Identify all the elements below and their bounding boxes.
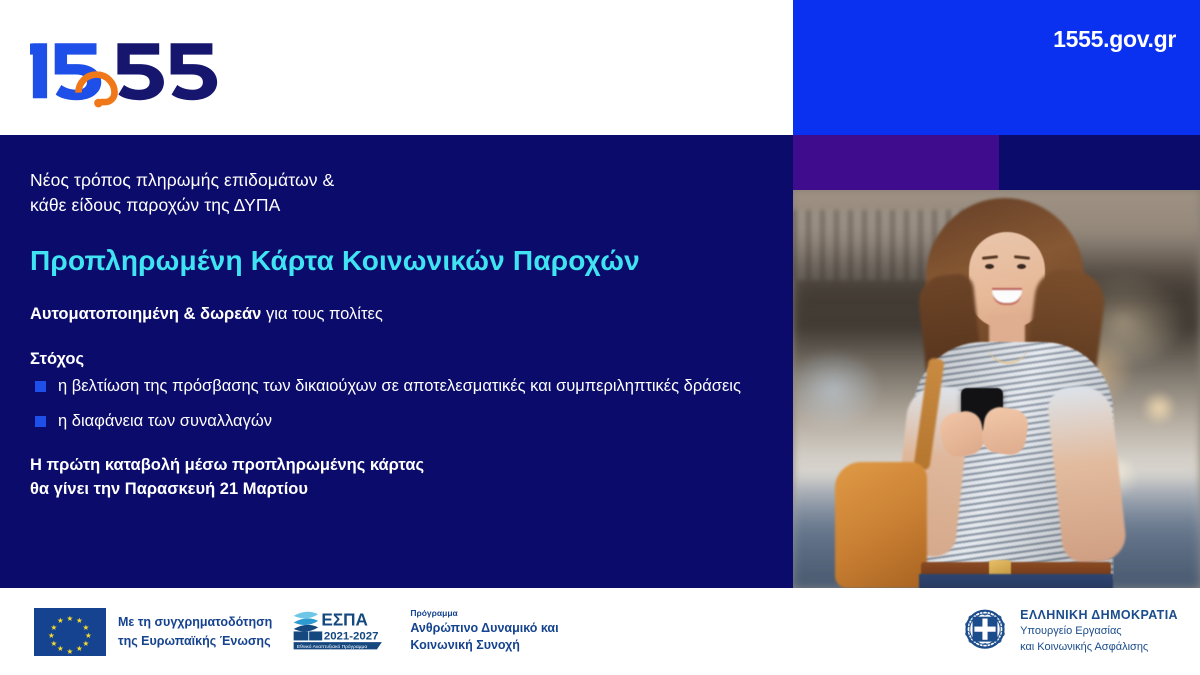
photo-eye-left (985, 264, 994, 269)
photo-jeans (919, 574, 1113, 588)
headset-mic-dot (94, 99, 103, 108)
eu-cofinance-line-1: Με τη συγχρηματοδότηση (118, 613, 272, 631)
kicker-text: Νέος τρόπος πληρωμής επιδομάτων & κάθε ε… (30, 168, 770, 218)
photo-eye-right (1017, 264, 1026, 269)
content-block: Νέος τρόπος πληρωμής επιδομάτων & κάθε ε… (30, 168, 770, 501)
logo-1555[interactable] (30, 24, 220, 108)
subline-rest: για τους πολίτες (261, 305, 382, 323)
gov-line-1: ΕΛΛΗΝΙΚΗ ΔΗΜΟΚΡΑΤΙΑ (1020, 606, 1178, 624)
gov-line-2: Υπουργείο Εργασίας (1020, 624, 1178, 640)
kicker-line-1: Νέος τρόπος πληρωμής επιδομάτων & (30, 168, 770, 193)
closing-line-2: θα γίνει την Παρασκευή 21 Μαρτίου (30, 478, 770, 501)
eu-flag-icon: ★ ★ ★ ★ ★ ★ ★ ★ ★ ★ ★ ★ (34, 608, 106, 656)
list-item: η βελτίωση της πρόσβασης των δικαιούχων … (30, 375, 770, 397)
greek-coat-of-arms-icon (961, 607, 1009, 655)
list-item-label: η βελτίωση της πρόσβασης των δικαιούχων … (58, 375, 741, 397)
gov-line-3: και Κοινωνικής Ασφάλισης (1020, 640, 1178, 656)
photo-backpack (835, 462, 927, 588)
espa-logo-mark: ΕΣΠΑ 2021-2027 Εθνικό Αναπτυξιακό Πρόγρα… (292, 606, 390, 652)
coat-of-arms-mark (961, 607, 1009, 655)
goal-bullet-list: η βελτίωση της πρόσβασης των δικαιούχων … (30, 375, 770, 432)
subline-bold: Αυτοματοποιημένη & δωρεάν (30, 305, 261, 323)
photo-woman-figure (793, 190, 1200, 588)
kicker-line-2: κάθε είδους παροχών της ΔΥΠΑ (30, 193, 770, 218)
government-text: ΕΛΛΗΝΙΚΗ ΔΗΜΟΚΡΑΤΙΑ Υπουργείο Εργασίας κ… (1020, 606, 1178, 656)
page-title: Προπληρωμένη Κάρτα Κοινωνικών Παροχών (30, 244, 770, 278)
bullet-square-icon (35, 416, 46, 427)
program-line-2: Κοινωνική Συνοχή (410, 637, 558, 655)
program-line-1: Ανθρώπινο Δυναμικό και (410, 620, 558, 638)
footer-bar: ★ ★ ★ ★ ★ ★ ★ ★ ★ ★ ★ ★ Με τη συγχρηματο… (0, 588, 1200, 675)
list-item: η διαφάνεια των συναλλαγών (30, 410, 770, 432)
closing-line-1: Η πρώτη καταβολή μέσω προπληρωμένης κάρτ… (30, 454, 770, 477)
hero-photo (793, 190, 1200, 588)
list-item-label: η διαφάνεια των συναλλαγών (58, 410, 272, 432)
subline-text: Αυτοματοποιημένη & δωρεάν για τους πολίτ… (30, 303, 770, 326)
footer-right-group: ΕΛΛΗΝΙΚΗ ΔΗΜΟΚΡΑΤΙΑ Υπουργείο Εργασίας κ… (961, 606, 1178, 656)
logo-1555-mark (30, 24, 220, 108)
closing-note: Η πρώτη καταβολή μέσω προπληρωμένης κάρτ… (30, 454, 770, 501)
program-label: Πρόγραμμα (410, 608, 558, 620)
eu-cofinance-line-2: της Ευρωπαϊκής Ένωσης (118, 632, 272, 650)
espa-logo: ΕΣΠΑ 2021-2027 Εθνικό Αναπτυξιακό Πρόγρα… (292, 606, 390, 657)
eu-cofinance-text: Με τη συγχρηματοδότηση της Ευρωπαϊκής Έν… (118, 613, 272, 649)
site-url[interactable]: 1555.gov.gr (1053, 26, 1176, 53)
footer-left-group: ★ ★ ★ ★ ★ ★ ★ ★ ★ ★ ★ ★ Με τη συγχρηματο… (34, 606, 559, 657)
goal-heading: Στόχος (30, 350, 770, 369)
poster-canvas: 1555.gov.gr (0, 0, 1200, 675)
svg-text:ΕΣΠΑ: ΕΣΠΑ (322, 610, 368, 630)
program-text: Πρόγραμμα Ανθρώπινο Δυναμικό και Κοινωνι… (410, 608, 558, 655)
svg-text:2021-2027: 2021-2027 (324, 631, 379, 643)
bullet-square-icon (35, 381, 46, 392)
purple-accent-block (793, 135, 999, 192)
